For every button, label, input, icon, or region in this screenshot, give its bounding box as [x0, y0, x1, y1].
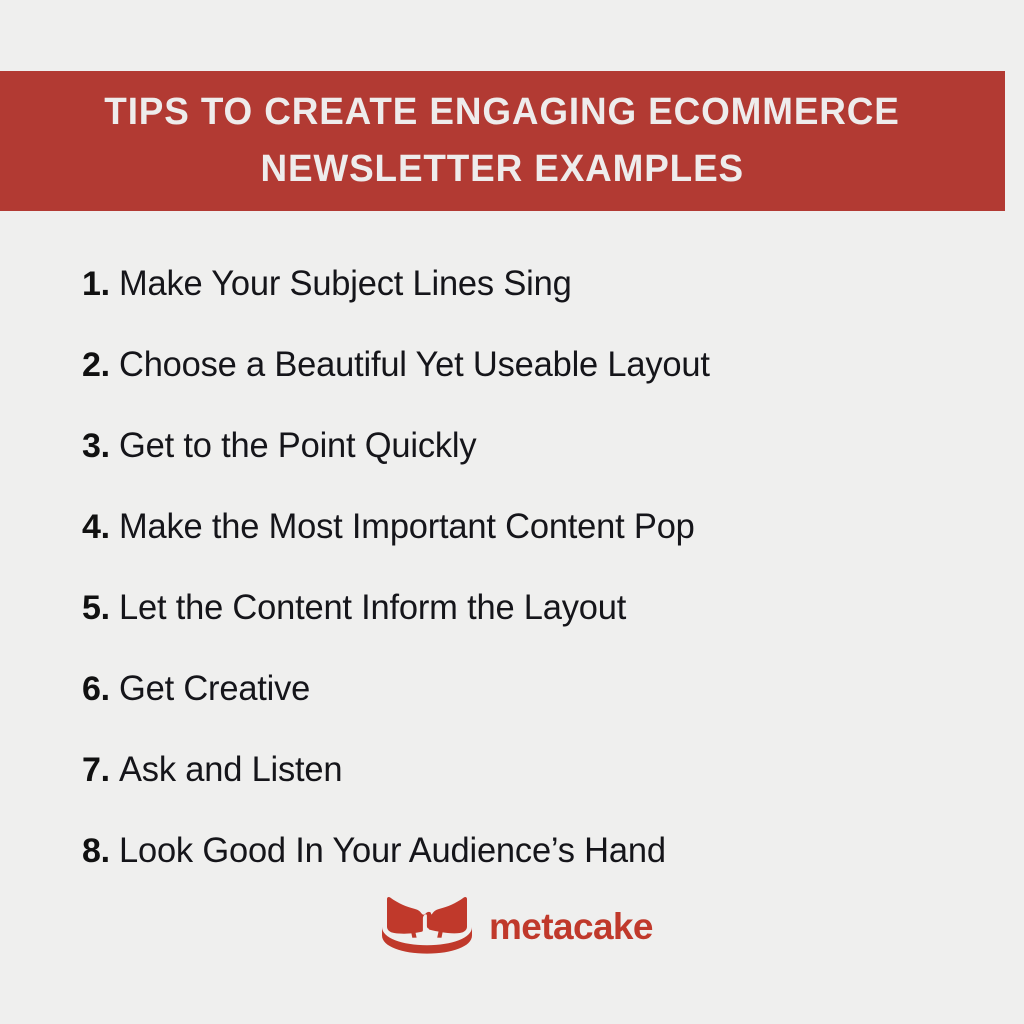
- list-item-label: Get to the Point Quickly: [119, 405, 476, 486]
- list-item-label: Make Your Subject Lines Sing: [119, 243, 572, 324]
- list-item-number: 6.: [82, 649, 110, 730]
- list-item: 2. Choose a Beautiful Yet Useable Layout: [82, 324, 982, 405]
- list-item: 7. Ask and Listen: [82, 729, 982, 810]
- list-item-number: 8.: [82, 811, 110, 892]
- tips-list: 1. Make Your Subject Lines Sing 2. Choos…: [82, 243, 982, 891]
- list-item-number: 4.: [82, 487, 110, 568]
- list-item-label: Choose a Beautiful Yet Useable Layout: [119, 324, 710, 405]
- list-item-label: Get Creative: [119, 648, 310, 729]
- list-item-number: 7.: [82, 730, 110, 811]
- banner-title-line-1: TIPS TO CREATE ENGAGING ECOMMERCE: [105, 84, 900, 141]
- list-item-label: Let the Content Inform the Layout: [119, 567, 626, 648]
- list-item: 1. Make Your Subject Lines Sing: [82, 243, 982, 324]
- list-item-number: 1.: [82, 244, 110, 325]
- poster-canvas: TIPS TO CREATE ENGAGING ECOMMERCE NEWSLE…: [0, 0, 1024, 1024]
- title-banner: TIPS TO CREATE ENGAGING ECOMMERCE NEWSLE…: [0, 71, 1005, 211]
- metacake-cake-m-icon: [379, 895, 475, 955]
- list-item: 3. Get to the Point Quickly: [82, 405, 982, 486]
- list-item-number: 5.: [82, 568, 110, 649]
- list-item-label: Make the Most Important Content Pop: [119, 486, 695, 567]
- list-item-label: Ask and Listen: [119, 729, 342, 810]
- logo-wordmark: metacake: [489, 908, 653, 945]
- brand-logo: metacake: [379, 895, 653, 955]
- list-item: 8. Look Good In Your Audience’s Hand: [82, 810, 982, 891]
- list-item: 6. Get Creative: [82, 648, 982, 729]
- banner-title-line-2: NEWSLETTER EXAMPLES: [261, 141, 745, 198]
- list-item: 4. Make the Most Important Content Pop: [82, 486, 982, 567]
- list-item-number: 3.: [82, 406, 110, 487]
- list-item: 5. Let the Content Inform the Layout: [82, 567, 982, 648]
- list-item-label: Look Good In Your Audience’s Hand: [119, 810, 666, 891]
- list-item-number: 2.: [82, 325, 110, 406]
